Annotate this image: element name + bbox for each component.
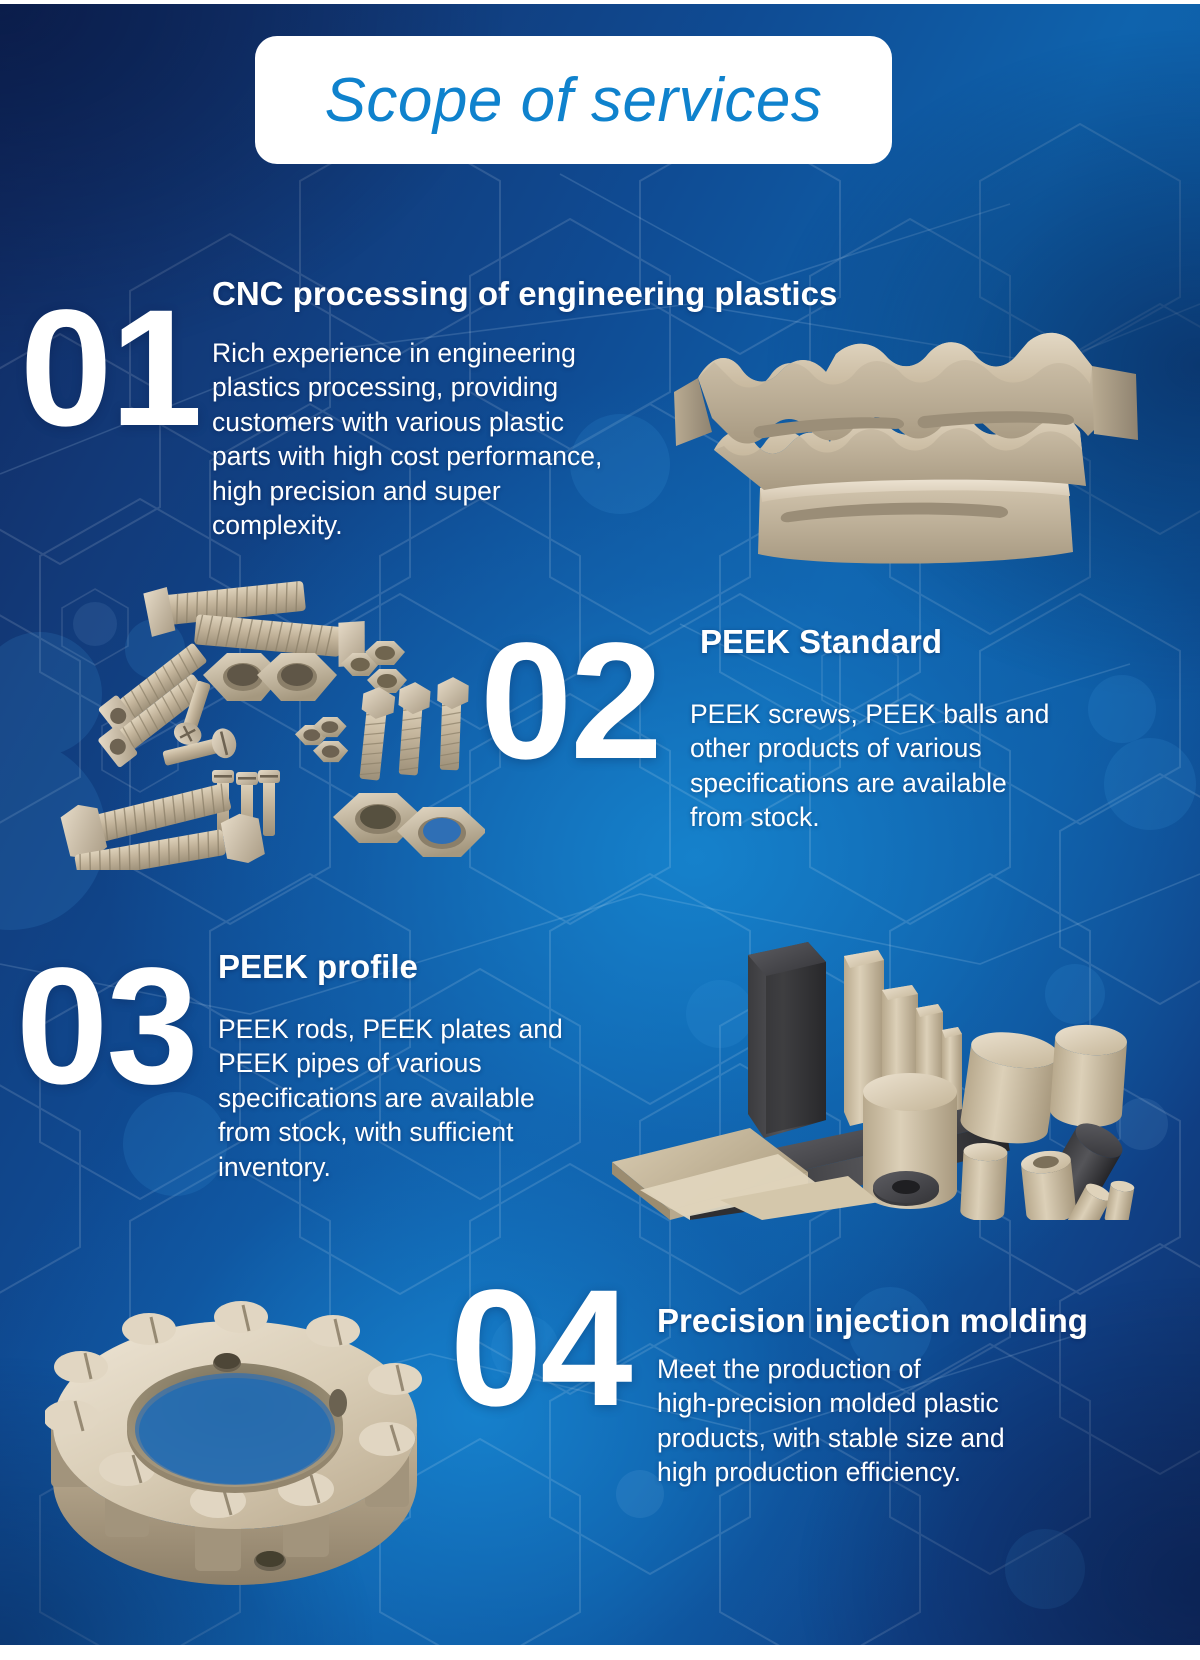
section-01-body-line: high precision and super	[212, 474, 682, 508]
section-04-number: 04	[450, 1272, 631, 1426]
section-03-body-line: from stock, with sufficient	[218, 1115, 658, 1149]
section-01-body-line: customers with various plastic	[212, 405, 682, 439]
section-04-heading: Precision injection molding	[657, 1302, 1088, 1340]
page-title: Scope of services	[325, 65, 823, 136]
infographic-poster: Scope of services 01 CNC processing of e…	[0, 0, 1200, 1660]
section-04-body: Meet the production of high-precision mo…	[657, 1352, 1097, 1490]
section-04-body-line: products, with stable size and	[657, 1421, 1097, 1455]
title-card: Scope of services	[255, 36, 892, 164]
section-02-body-line: other products of various	[690, 731, 1120, 765]
section-02-body-line: from stock.	[690, 800, 1120, 834]
peek-rods-plates-tubes-photo	[612, 890, 1142, 1220]
section-03-body-line: PEEK rods, PEEK plates and	[218, 1012, 658, 1046]
peek-slotted-ring-photo	[45, 1255, 435, 1585]
section-01-body-line: complexity.	[212, 508, 682, 542]
section-02-body: PEEK screws, PEEK balls and other produc…	[690, 697, 1120, 835]
section-03-body: PEEK rods, PEEK plates and PEEK pipes of…	[218, 1012, 658, 1184]
section-02-body-line: specifications are available	[690, 766, 1120, 800]
section-03-body-line: specifications are available	[218, 1081, 658, 1115]
section-01-body-line: Rich experience in engineering	[212, 336, 682, 370]
section-02-heading: PEEK Standard	[700, 623, 942, 661]
section-03-heading: PEEK profile	[218, 948, 418, 986]
section-04-body-line: high-precision molded plastic	[657, 1386, 1097, 1420]
section-03-body-line: inventory.	[218, 1150, 658, 1184]
section-01-body: Rich experience in engineering plastics …	[212, 336, 682, 543]
section-01-body-line: plastics processing, providing	[212, 370, 682, 404]
cnc-machined-peek-part-photo	[668, 300, 1138, 570]
section-04-body-line: high production efficiency.	[657, 1455, 1097, 1489]
section-01-body-line: parts with high cost performance,	[212, 439, 682, 473]
section-02-number: 02	[480, 625, 661, 779]
section-01-number: 01	[20, 292, 201, 446]
section-04-body-line: Meet the production of	[657, 1352, 1097, 1386]
section-02-body-line: PEEK screws, PEEK balls and	[690, 697, 1120, 731]
section-03-number: 03	[16, 950, 197, 1104]
peek-fasteners-photo	[45, 545, 485, 870]
section-03-body-line: PEEK pipes of various	[218, 1046, 658, 1080]
